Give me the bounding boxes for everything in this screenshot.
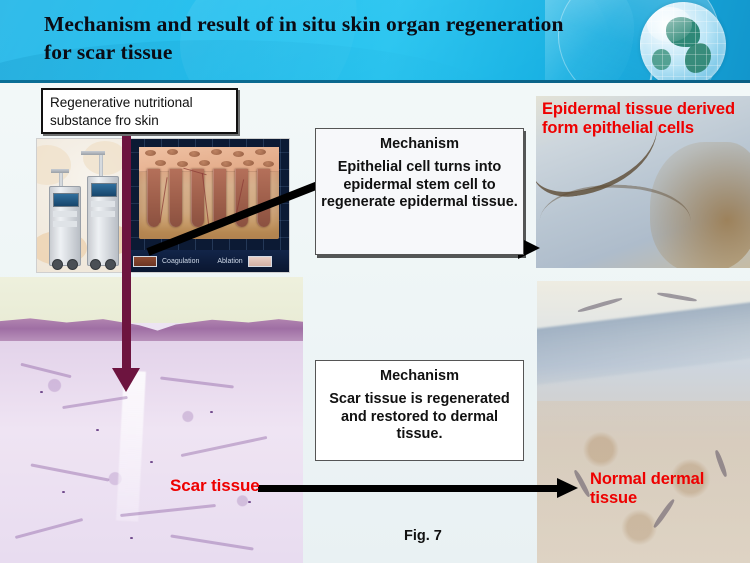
legend-label-coagulation: Coagulation [162, 258, 199, 265]
treatment-flow-arrow-shaft [122, 136, 131, 374]
photo-backdrop-blob [83, 141, 127, 175]
laser-wheel [105, 259, 116, 270]
legend-label-ablation: Ablation [217, 258, 242, 265]
collagen-fiber [170, 534, 253, 550]
laser-channel [147, 169, 160, 227]
figure-caption: Fig. 7 [404, 528, 442, 544]
vessel [159, 177, 167, 223]
scar-tissue-histology-image [0, 277, 303, 563]
page-title: Mechanism and result of in situ skin org… [44, 10, 564, 67]
ablation-dot [211, 149, 222, 155]
laser-wheel [52, 259, 63, 270]
label-scar-tissue: Scar tissue [170, 476, 260, 495]
globe-gloss [647, 7, 692, 41]
label-epidermal-tissue: Epidermal tissue derived form epithelial… [542, 100, 750, 138]
laser-panel [91, 201, 115, 207]
slide-canvas: Mechanism and result of in situ skin org… [0, 0, 750, 563]
scar-band [116, 371, 146, 522]
title-banner: Mechanism and result of in situ skin org… [0, 0, 750, 83]
histology-background [0, 277, 303, 323]
laser-channel [169, 169, 182, 227]
ablation-dot [177, 161, 188, 167]
label-normal-dermal-tissue: Normal dermal tissue [590, 470, 750, 508]
ablation-dot [243, 160, 254, 166]
legend-swatch-coagulation [133, 256, 157, 267]
callout-regenerative-substance: Regenerative nutritional substance fro s… [41, 88, 238, 134]
ablation-dot [263, 161, 274, 167]
histology-dermis-layer [0, 341, 303, 563]
ablation-dot [167, 149, 178, 155]
treatment-flow-arrow-head [112, 368, 140, 392]
mechanism-box-heading: Mechanism [316, 136, 523, 152]
collagen-fiber [15, 518, 83, 539]
laser-panel [53, 211, 77, 217]
laser-wheel [67, 259, 78, 270]
collagen-fiber [181, 436, 268, 457]
normal-dermal-ihc-image: 4E [537, 281, 750, 563]
laser-screen-1 [53, 193, 79, 207]
photo-backdrop-blob [37, 145, 71, 185]
laser-arm-head-1 [51, 169, 69, 173]
mechanism-box-epidermal: Mechanism Epithelial cell turns into epi… [315, 128, 524, 255]
laser-screen-2 [91, 183, 117, 197]
laser-panel [53, 221, 77, 227]
ablation-dot [233, 151, 244, 157]
scar-to-dermal-arrow-head [557, 478, 578, 498]
legend-swatch-ablation [248, 256, 272, 267]
scar-to-dermal-arrow-shaft [258, 485, 563, 492]
mechanism-box-body: Epithelial cell turns into epidermal ste… [316, 159, 523, 212]
laser-wheel [90, 259, 101, 270]
ablation-dot [155, 160, 166, 166]
ablation-dot [255, 149, 266, 155]
laser-unit-2 [87, 176, 119, 266]
mechanism-box-heading: Mechanism [316, 368, 523, 384]
banner-underline [0, 80, 750, 83]
collagen-fiber [62, 396, 128, 409]
collagen-fiber [20, 363, 71, 378]
ablation-dot [199, 160, 210, 166]
collagen-fiber [160, 377, 234, 389]
ablation-dot [145, 150, 156, 156]
laser-machines-photo [37, 139, 127, 272]
laser-unit-1 [49, 186, 81, 266]
ablation-dot [221, 161, 232, 167]
mechanism-box-body: Scar tissue is regenerated and restored … [316, 391, 523, 444]
laser-arm-head-2 [81, 151, 105, 155]
mechanism-box-dermal: Mechanism Scar tissue is regenerated and… [315, 360, 524, 461]
laser-panel [91, 211, 115, 217]
globe-icon [640, 2, 726, 83]
globe-artwork [545, 0, 750, 83]
laser-channel [257, 169, 270, 227]
ablation-dot [189, 151, 200, 157]
collagen-fiber [30, 463, 109, 481]
